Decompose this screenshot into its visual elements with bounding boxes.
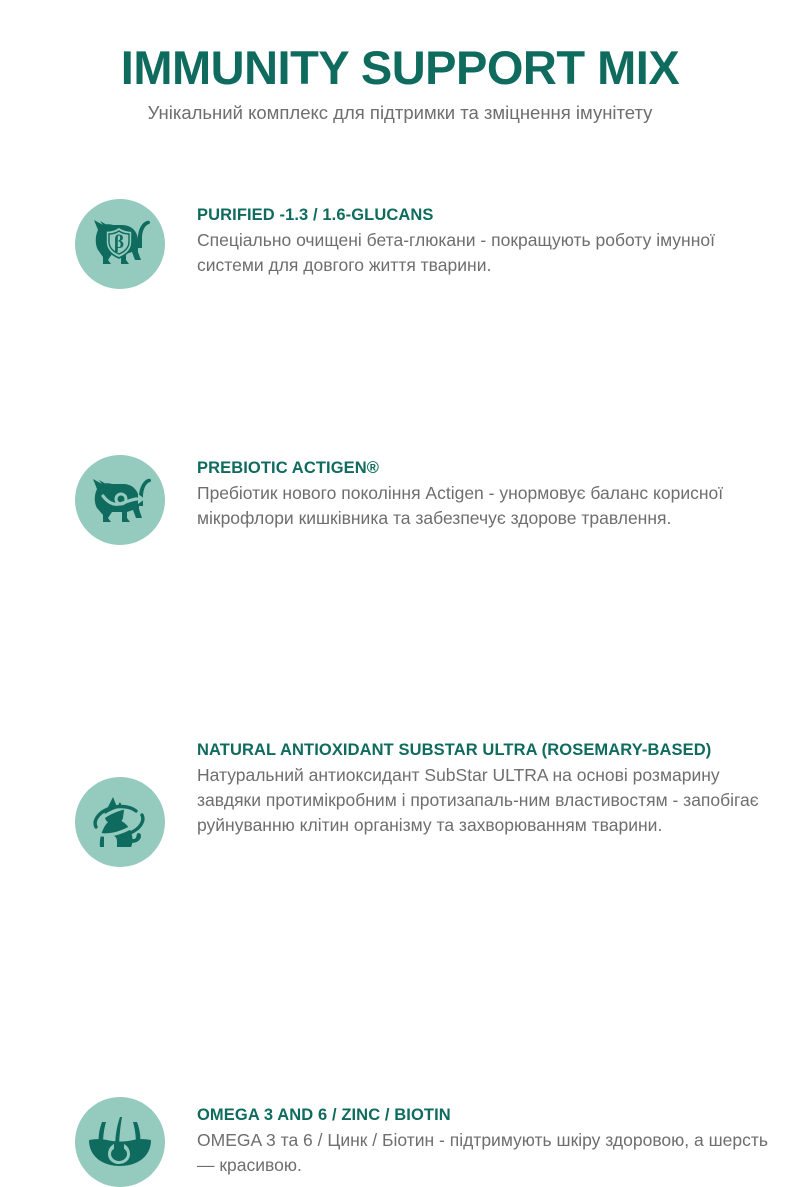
feature-body: OMEGA 3 та 6 / Цинк / Біотин - підтримую…	[197, 1128, 772, 1178]
cat-shield-beta-icon: β	[75, 199, 165, 289]
hair-follicle-skin-icon	[75, 1097, 165, 1187]
feature-body: Спеціально очищені бета-глюкани - покращ…	[197, 228, 772, 278]
page-subtitle: Унікальний комплекс для підтримки та змі…	[0, 100, 800, 126]
feature-text-prebiotic: PREBIOTIC ACTIGEN® Пребіотик нового поко…	[197, 458, 772, 531]
feature-title: OMEGA 3 AND 6 / ZINC / BIOTIN	[197, 1105, 772, 1126]
svg-text:β: β	[114, 232, 124, 253]
feature-text-glucans: PURIFIED -1.3 / 1.6-GLUCANS Спеціально о…	[197, 205, 772, 278]
feature-body: Натуральний антиоксидант SubStar ULTRA н…	[197, 763, 772, 838]
page-title: IMMUNITY SUPPORT MIX	[0, 42, 800, 94]
feature-title: NATURAL ANTIOXIDANT SUBSTAR ULTRA (ROSEM…	[197, 740, 772, 761]
cat-digestive-arrow-icon	[75, 455, 165, 545]
feature-title: PREBIOTIC ACTIGEN®	[197, 458, 772, 479]
infographic-page: IMMUNITY SUPPORT MIX Унікальний комплекс…	[0, 0, 800, 800]
header: IMMUNITY SUPPORT MIX Унікальний комплекс…	[0, 0, 800, 126]
cat-sitting-orbit-icon	[75, 777, 165, 867]
feature-title: PURIFIED -1.3 / 1.6-GLUCANS	[197, 205, 772, 226]
feature-text-omega: OMEGA 3 AND 6 / ZINC / BIOTIN OMEGA 3 та…	[197, 1105, 772, 1178]
feature-text-antioxidant: NATURAL ANTIOXIDANT SUBSTAR ULTRA (ROSEM…	[197, 740, 772, 838]
feature-body: Пребіотик нового покоління Actigen - уно…	[197, 481, 772, 531]
